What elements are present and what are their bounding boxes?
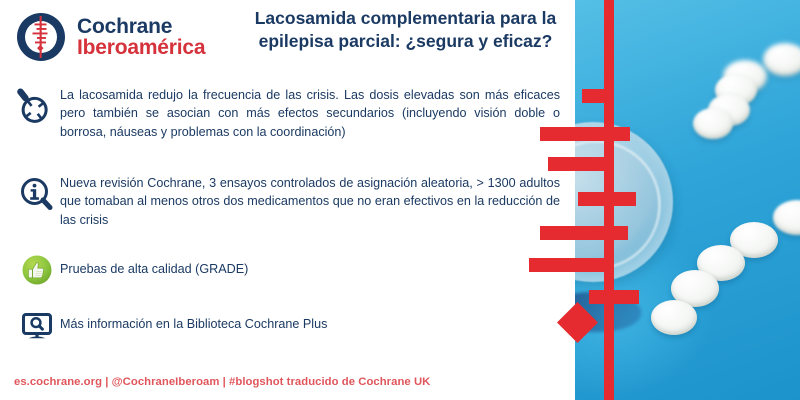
list-item-text: Pruebas de alta calidad (GRADE) xyxy=(60,260,528,278)
pill xyxy=(693,108,733,139)
pills-photo xyxy=(575,0,800,400)
footer-credits: es.cochrane.org | @CochraneIberoam | #bl… xyxy=(14,376,430,388)
page-title: Lacosamida complementaria para la epilep… xyxy=(218,7,593,53)
list-item: Más información en la Biblioteca Cochran… xyxy=(0,304,600,345)
pill xyxy=(651,300,697,335)
logo-text-iberoamerica: Iberoamérica xyxy=(77,37,205,58)
cochrane-forest-circle-logo-icon xyxy=(14,10,68,64)
cochrane-logo: Cochrane Iberoamérica xyxy=(14,10,205,64)
cochrane-blogshot-infographic: Cochrane Iberoamérica Lacosamida complem… xyxy=(0,0,800,400)
pill xyxy=(763,43,800,76)
list-item: La lacosamida redujo la frecuencia de la… xyxy=(0,86,600,141)
logo-text-cochrane: Cochrane xyxy=(77,16,205,37)
list-item: Pruebas de alta calidad (GRADE) xyxy=(0,249,600,290)
thumbs-up-icon xyxy=(14,249,60,290)
monitor-search-icon xyxy=(14,304,60,345)
pill xyxy=(773,200,800,235)
magnifier-target-icon xyxy=(14,86,60,127)
list-item-text: La lacosamida redujo la frecuencia de la… xyxy=(60,86,568,141)
list-item-text: Nueva revisión Cochrane, 3 ensayos contr… xyxy=(60,174,568,229)
list-item: Nueva revisión Cochrane, 3 ensayos contr… xyxy=(0,174,600,229)
list-item-text: Más información en la Biblioteca Cochran… xyxy=(60,315,528,333)
magnifier-info-icon xyxy=(14,174,60,215)
cochrane-logo-wordmark: Cochrane Iberoamérica xyxy=(77,16,205,59)
